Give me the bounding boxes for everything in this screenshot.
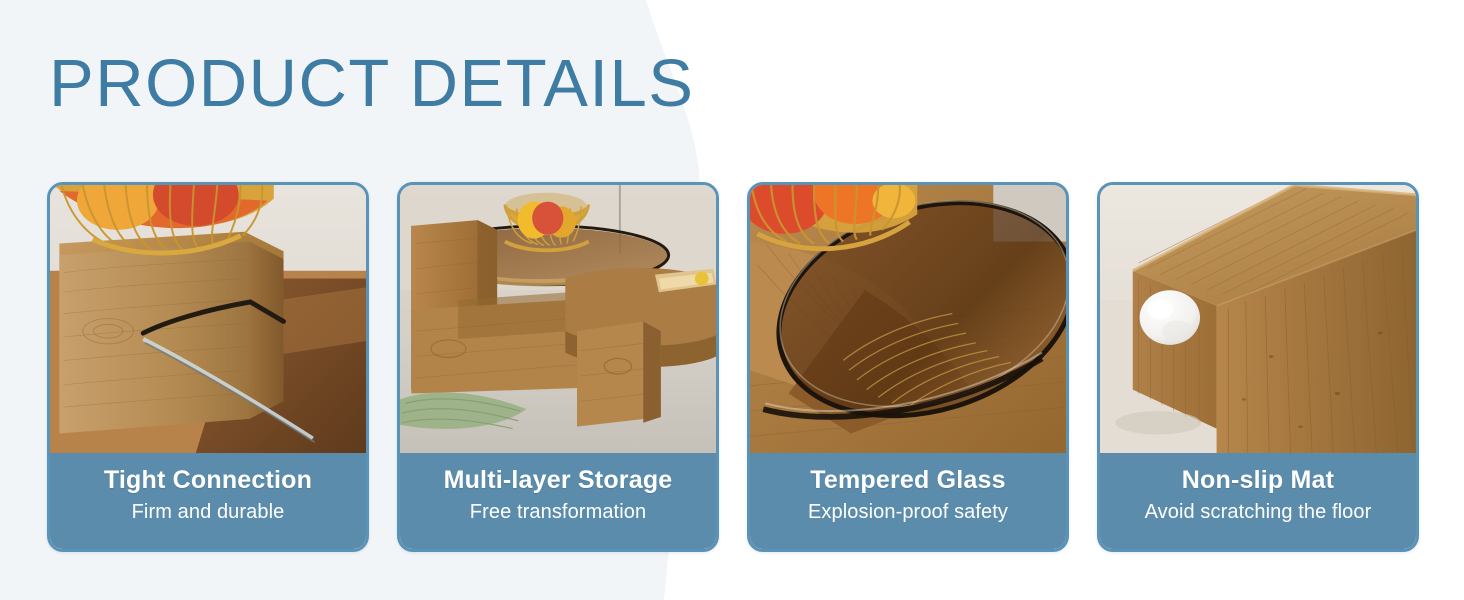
card-subtitle: Avoid scratching the floor	[1100, 500, 1416, 524]
feature-cards-row: Tight Connection Firm and durable	[47, 182, 1419, 552]
feature-card-multi-layer-storage[interactable]: Multi-layer Storage Free transformation	[397, 182, 719, 552]
card-title: Non-slip Mat	[1100, 466, 1416, 495]
card-subtitle: Free transformation	[400, 500, 716, 524]
feature-card-non-slip-mat[interactable]: Non-slip Mat Avoid scratching the floor	[1097, 182, 1419, 552]
product-photo-multi-layer-storage	[400, 185, 716, 453]
card-title: Tempered Glass	[750, 466, 1066, 495]
card-caption: Tempered Glass Explosion-proof safety	[750, 453, 1066, 549]
product-photo-non-slip-mat	[1100, 185, 1416, 453]
non-slip-pad	[1140, 290, 1200, 345]
card-subtitle: Explosion-proof safety	[750, 500, 1066, 524]
card-caption: Non-slip Mat Avoid scratching the floor	[1100, 453, 1416, 549]
card-title: Multi-layer Storage	[400, 466, 716, 495]
product-photo-tight-connection	[50, 185, 366, 453]
card-title: Tight Connection	[50, 466, 366, 495]
card-subtitle: Firm and durable	[50, 500, 366, 524]
product-photo-tempered-glass	[750, 185, 1066, 453]
feature-card-tight-connection[interactable]: Tight Connection Firm and durable	[47, 182, 369, 552]
card-caption: Tight Connection Firm and durable	[50, 453, 366, 549]
page-title: PRODUCT DETAILS	[49, 50, 694, 117]
feature-card-tempered-glass[interactable]: Tempered Glass Explosion-proof safety	[747, 182, 1069, 552]
card-caption: Multi-layer Storage Free transformation	[400, 453, 716, 549]
